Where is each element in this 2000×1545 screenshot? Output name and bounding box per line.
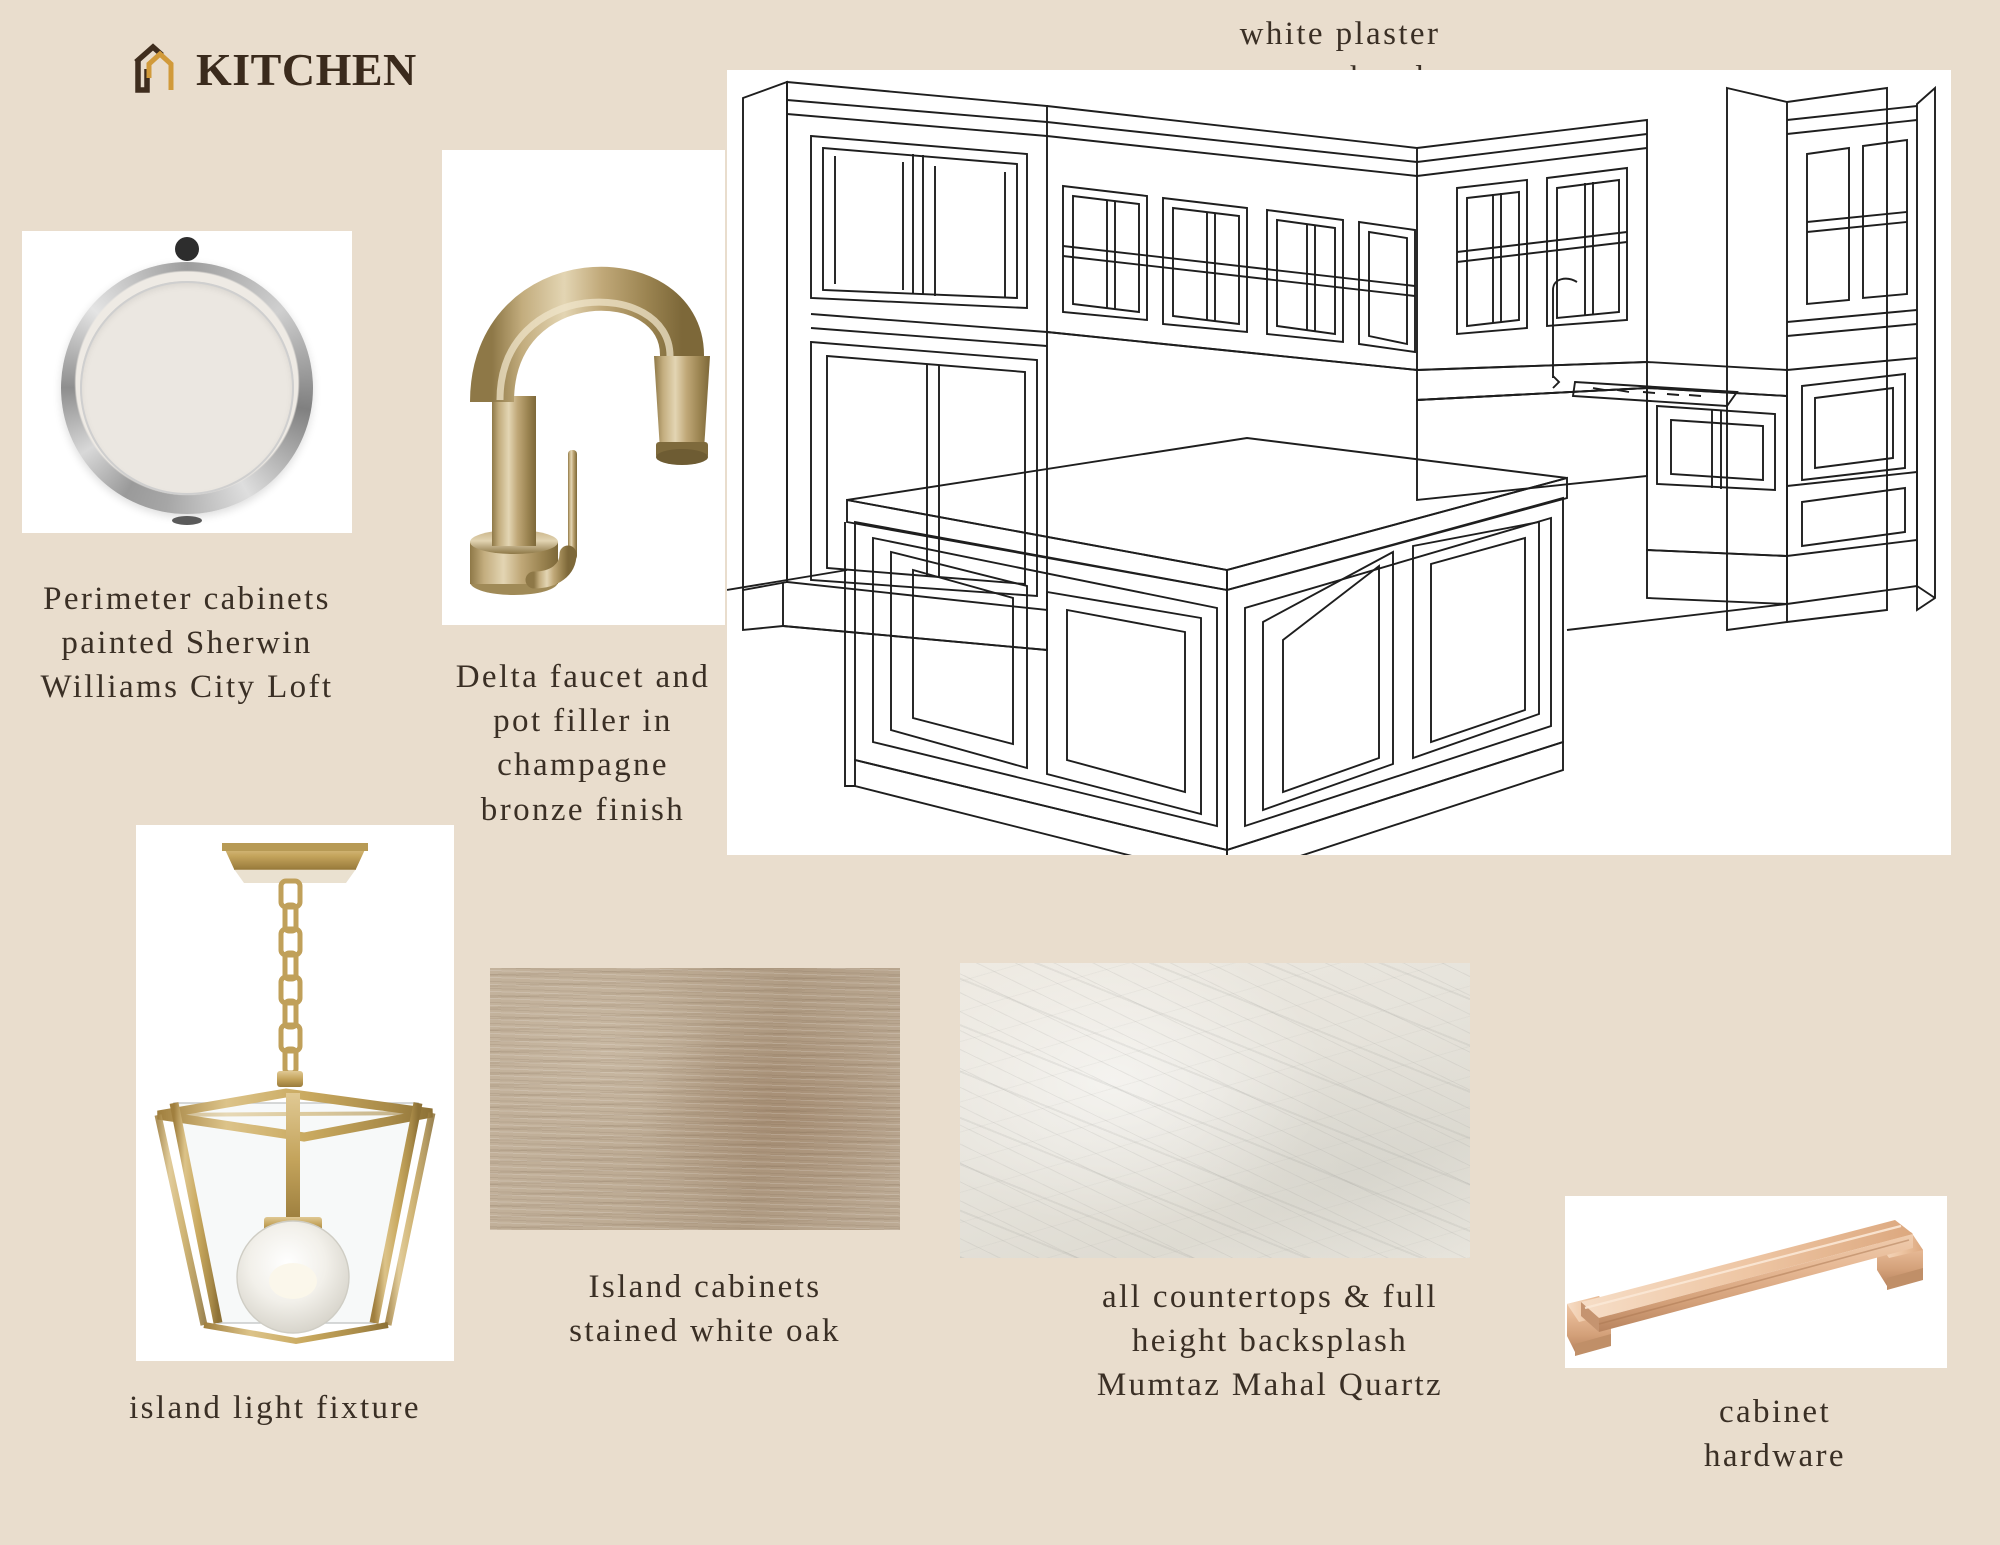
caption-delta-faucet: Delta faucet and pot filler in champagne… (418, 655, 748, 832)
quartz-swatch (960, 963, 1470, 1258)
paint-can-photo (22, 231, 352, 533)
pendant-light-photo (136, 825, 454, 1361)
mood-board: KITCHEN Perimeter cabinets painted Sherw… (0, 0, 2000, 1545)
cabinet-pull-photo (1565, 1196, 1947, 1368)
faucet-photo (442, 150, 725, 625)
caption-island-cabinets: Island cabinets stained white oak (505, 1265, 905, 1353)
kitchen-line-drawing (727, 70, 1951, 855)
caption-perimeter-cabinets: Perimeter cabinets painted Sherwin Willi… (12, 577, 362, 710)
white-oak-swatch (490, 968, 900, 1230)
caption-countertops: all countertops & full height backsplash… (1040, 1275, 1500, 1408)
caption-cabinet-hardware: cabinet hardware (1610, 1390, 1940, 1478)
lantern-pendant-illustration (136, 825, 454, 1361)
can-handle-top (175, 237, 199, 261)
faucet-illustration (442, 150, 725, 625)
logo-text: KITCHEN (196, 43, 417, 96)
appliance-pull-illustration (1565, 1196, 1947, 1368)
house-roof-icon (128, 38, 190, 100)
kitchen-perspective-rendering (727, 70, 1951, 855)
paint-can-lid (61, 262, 313, 514)
caption-island-light: island light fixture (80, 1386, 470, 1430)
can-handle-bottom (172, 516, 202, 525)
brand-logo: KITCHEN (128, 38, 417, 100)
